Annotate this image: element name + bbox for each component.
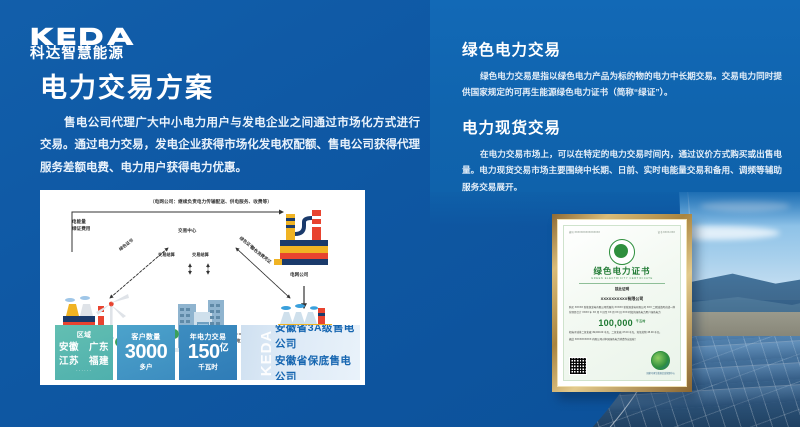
stat-region-line1: 安徽 广东	[55, 341, 113, 355]
stat-badge-line1: 安徽省3A级售电公司	[275, 325, 360, 353]
stat-badge-line2: 安徽省保底售电公司	[275, 353, 360, 381]
stats-strip: 区域 安徽 广东 江苏 福建 ······ 客户数量 3000 多户 年电力交易…	[55, 325, 360, 380]
certificate-stamp-text: 国家可再生能源信息管理中心	[647, 371, 675, 375]
section1-heading: 绿色电力交易	[462, 42, 782, 61]
certificate-page: 编号 XXXXXXXXXXXXXXXX 证书 XXXX-XXX 绿色电力证书 G…	[563, 225, 681, 381]
certificate-number-left: 编号 XXXXXXXXXXXXXXXX	[569, 230, 600, 234]
stat-annual-sub: 千瓦时	[179, 363, 237, 372]
certificate-top-ids: 编号 XXXXXXXXXXXXXXXX 证书 XXXX-XXX	[569, 230, 675, 234]
official-seal-icon	[651, 351, 670, 370]
certificate-frame-inner: 编号 XXXXXXXXXXXXXXXX 证书 XXXX-XXX 绿色电力证书 G…	[557, 219, 687, 387]
brand-sub-label: 科达智慧能源	[30, 47, 170, 62]
stat-customers-value: 3000	[117, 342, 175, 363]
stat-region-caption: 区域	[55, 331, 113, 341]
keda-watermark: KEDA	[258, 329, 275, 376]
section-green-power-trading: 绿色电力交易 绿色电力交易是指以绿色电力产品为标的物的电力中长期交易。交易电力同…	[462, 42, 782, 101]
certificate-detail: 相当于减排二氧化碳 49,000.00 千克、二氧化硫 47.00 千克、氮氧化…	[569, 331, 675, 335]
stat-badge-panel: KEDA 安徽省3A级售电公司 安徽省保底售电公司	[241, 325, 360, 380]
section1-body: 绿色电力交易是指以绿色电力产品为标的物的电力中长期交易。交易电力同时提供国家规定…	[462, 68, 782, 102]
page-intro-paragraph: 售电公司代理广大中小电力用户与发电企业之间通过市场化方式进行交易。通过电力交易，…	[40, 112, 420, 179]
stat-annual-trade: 年电力交易 150亿 千瓦时	[179, 325, 237, 380]
qr-code-icon	[569, 357, 587, 375]
section2-body: 在电力交易市场上，可以在特定的电力交易时间内，通过议价方式购买或出售电量。电力现…	[462, 146, 782, 196]
certificate-stamp: 国家可再生能源信息管理中心	[647, 351, 675, 375]
diagram-label-settlement-right: 交易结算	[192, 252, 209, 258]
green-certificate: 编号 XXXXXXXXXXXXXXXX 证书 XXXX-XXX 绿色电力证书 G…	[552, 214, 692, 392]
certificate-emblem-icon	[609, 239, 635, 265]
page-title: 电力交易方案	[40, 72, 214, 104]
certificate-amount-wrap: 100,000 千瓦时	[569, 318, 675, 328]
stat-badge-text: 安徽省3A级售电公司 安徽省保底售电公司	[275, 325, 360, 380]
stat-customers: 客户数量 3000 多户	[117, 325, 175, 380]
certificate-amount-unit: 千瓦时	[636, 319, 646, 323]
stat-customers-sub: 多户	[117, 363, 175, 372]
certificate-subtitle: 兹此证明	[569, 287, 675, 292]
slide-canvas: 科达智慧能源 电力交易方案 售电公司代理广大中小电力用户与发电企业之间通过市场化…	[0, 0, 800, 427]
certificate-title-en: GREEN ELECTRICITY CERTIFICATE	[569, 277, 675, 280]
certificate-amount: 100,000	[598, 318, 633, 328]
certificate-paragraph: 购买 XXXXX 新能源发电有限公司所属的 XXXXX 新能源发电有限公司 XX…	[569, 306, 675, 315]
stat-annual-value: 150	[188, 341, 220, 363]
brand-logo: 科达智慧能源	[30, 26, 170, 62]
stat-region: 区域 安徽 广东 江苏 福建 ······	[55, 325, 113, 380]
diagram-label-energy: 电能量 绿证费用	[72, 218, 90, 233]
certificate-divider	[579, 283, 665, 284]
diagram-label-grid-company: 电网公司	[290, 272, 308, 278]
keda-logo-icon	[30, 26, 160, 45]
section-spot-trading: 电力现货交易 在电力交易市场上，可以在特定的电力交易时间内，通过议价方式购买或出…	[462, 120, 782, 196]
stat-annual-unit: 亿	[220, 343, 229, 353]
stat-region-dots: ······	[55, 369, 113, 374]
certificate-number-right: 证书 XXXX-XXX	[658, 230, 675, 234]
certificate-company: XXXXXXXXXX有限公司	[569, 296, 675, 302]
certificate-title: 绿色电力证书	[569, 267, 675, 276]
stat-region-line2: 江苏 福建	[55, 355, 113, 369]
diagram-label-trading-center: 交易中心	[178, 228, 196, 234]
certificate-footer: 据此 XXXXXXXXXX 有限公司对中国绿色电力消费作出贡献！	[569, 338, 675, 342]
stat-annual-value-wrap: 150亿	[179, 342, 237, 363]
certificate-bottom-row: 国家可再生能源信息管理中心	[569, 351, 675, 375]
diagram-label-settlement-left: 交易结算	[158, 252, 175, 258]
certificate-frame: 编号 XXXXXXXXXXXXXXXX 证书 XXXX-XXX 绿色电力证书 G…	[552, 214, 692, 392]
grid-company-icon	[272, 208, 338, 270]
section2-heading: 电力现货交易	[462, 120, 782, 139]
